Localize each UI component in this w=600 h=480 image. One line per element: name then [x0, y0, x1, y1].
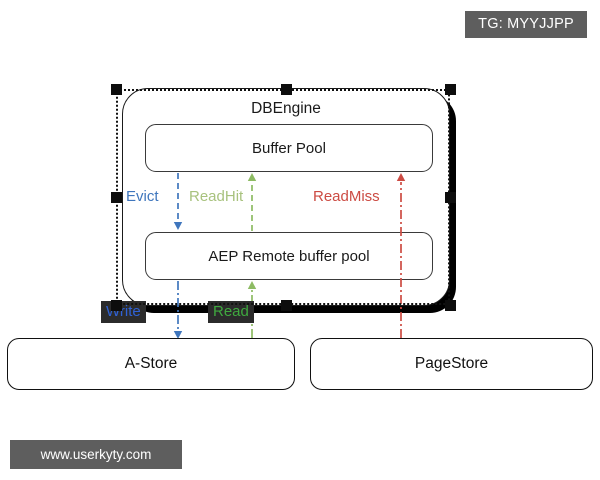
a-store-box[interactable]: A-Store: [7, 338, 295, 390]
diagram-canvas: TG: MYYJJPP DBEngine Buffer Pool AEP Rem…: [0, 0, 600, 480]
a-store-label: A-Store: [125, 355, 178, 373]
aep-remote-buffer-pool-box[interactable]: AEP Remote buffer pool: [145, 232, 433, 280]
aep-remote-buffer-pool-label: AEP Remote buffer pool: [208, 248, 369, 265]
resize-handle-nw[interactable]: [111, 84, 122, 95]
page-store-box[interactable]: PageStore: [310, 338, 593, 390]
resize-handle-ne[interactable]: [445, 84, 456, 95]
resize-handle-s[interactable]: [281, 300, 292, 311]
tag-badge: TG: MYYJJPP: [465, 11, 587, 38]
buffer-pool-box[interactable]: Buffer Pool: [145, 124, 433, 172]
resize-handle-n[interactable]: [281, 84, 292, 95]
resize-handle-se[interactable]: [445, 300, 456, 311]
flow-label-write[interactable]: Write: [101, 301, 146, 323]
resize-handle-sw[interactable]: [111, 300, 122, 311]
flow-label-readhit: ReadHit: [189, 188, 243, 205]
flow-label-evict: Evict: [126, 188, 159, 205]
resize-handle-e[interactable]: [445, 192, 456, 203]
page-store-label: PageStore: [415, 355, 488, 373]
watermark: www.userkyty.com: [10, 440, 182, 469]
flow-label-readmiss: ReadMiss: [313, 188, 380, 205]
buffer-pool-label: Buffer Pool: [252, 140, 326, 157]
resize-handle-w[interactable]: [111, 192, 122, 203]
flow-label-read[interactable]: Read: [208, 301, 254, 323]
dbengine-title: DBEngine: [123, 100, 449, 118]
